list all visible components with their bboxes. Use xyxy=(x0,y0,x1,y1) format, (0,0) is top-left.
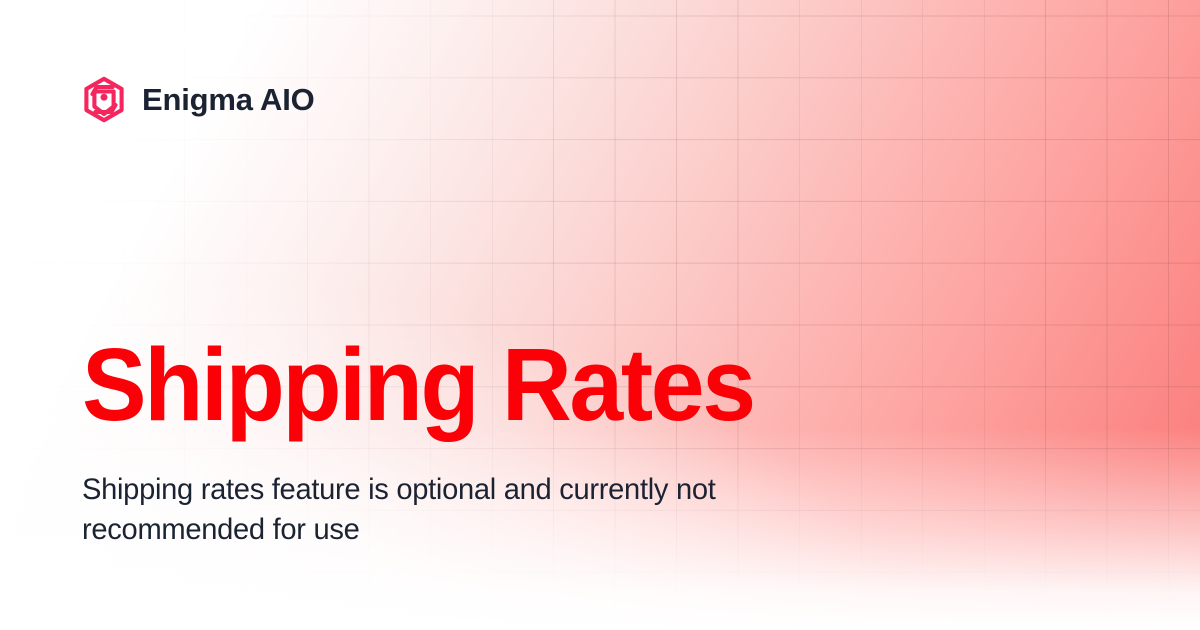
page-title: Shipping Rates xyxy=(82,333,754,436)
page-subtitle: Shipping rates feature is optional and c… xyxy=(82,470,829,550)
enigma-hexagon-logo-icon xyxy=(82,76,126,123)
og-card: Enigma AIO Shipping Rates Shipping rates… xyxy=(0,0,1200,630)
brand-name: Enigma AIO xyxy=(142,84,315,115)
card-content: Enigma AIO Shipping Rates Shipping rates… xyxy=(0,0,1200,630)
brand-lockup: Enigma AIO xyxy=(82,76,315,123)
